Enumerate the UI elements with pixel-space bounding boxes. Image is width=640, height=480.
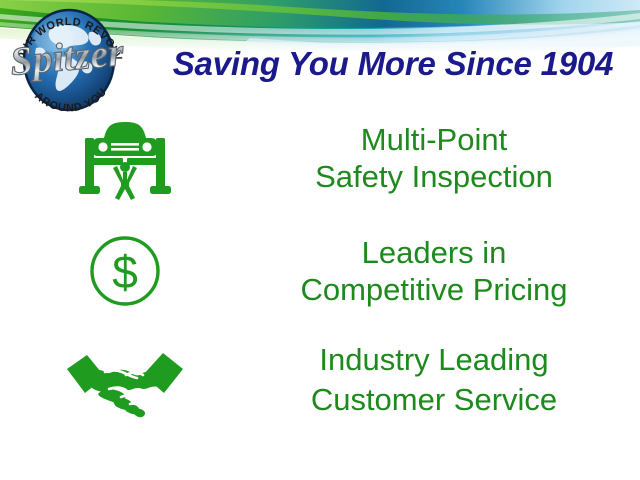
feature-line: Customer Service bbox=[250, 380, 618, 420]
feature-row-safety-inspection: Multi-Point Safety Inspection bbox=[0, 110, 640, 206]
handshake-icon bbox=[65, 341, 185, 419]
feature-row-competitive-pricing: $ Leaders in Competitive Pricing bbox=[0, 228, 640, 314]
feature-text-competitive-pricing: Leaders in Competitive Pricing bbox=[250, 234, 640, 308]
feature-row-customer-service: Industry Leading Customer Service bbox=[0, 330, 640, 430]
svg-text:$: $ bbox=[112, 246, 138, 298]
feature-line: Competitive Pricing bbox=[250, 271, 618, 308]
car-lift-icon-wrap bbox=[0, 116, 250, 200]
handshake-icon-wrap bbox=[0, 341, 250, 419]
feature-line: Multi-Point bbox=[250, 121, 618, 158]
promotional-slide: OUR WORLD REVOLVES AROUND YOU Spitzer Sa… bbox=[0, 0, 640, 480]
page-title: Saving You More Since 1904 bbox=[150, 44, 636, 84]
feature-line: Industry Leading bbox=[250, 340, 618, 380]
feature-line: Safety Inspection bbox=[250, 158, 618, 195]
feature-text-customer-service: Industry Leading Customer Service bbox=[250, 340, 640, 420]
dollar-circle-icon: $ bbox=[87, 233, 163, 309]
spitzer-logo: OUR WORLD REVOLVES AROUND YOU Spitzer bbox=[4, 2, 134, 118]
feature-line: Leaders in bbox=[250, 234, 618, 271]
dollar-circle-icon-wrap: $ bbox=[0, 233, 250, 309]
car-lift-icon bbox=[77, 116, 173, 200]
feature-text-safety-inspection: Multi-Point Safety Inspection bbox=[250, 121, 640, 195]
